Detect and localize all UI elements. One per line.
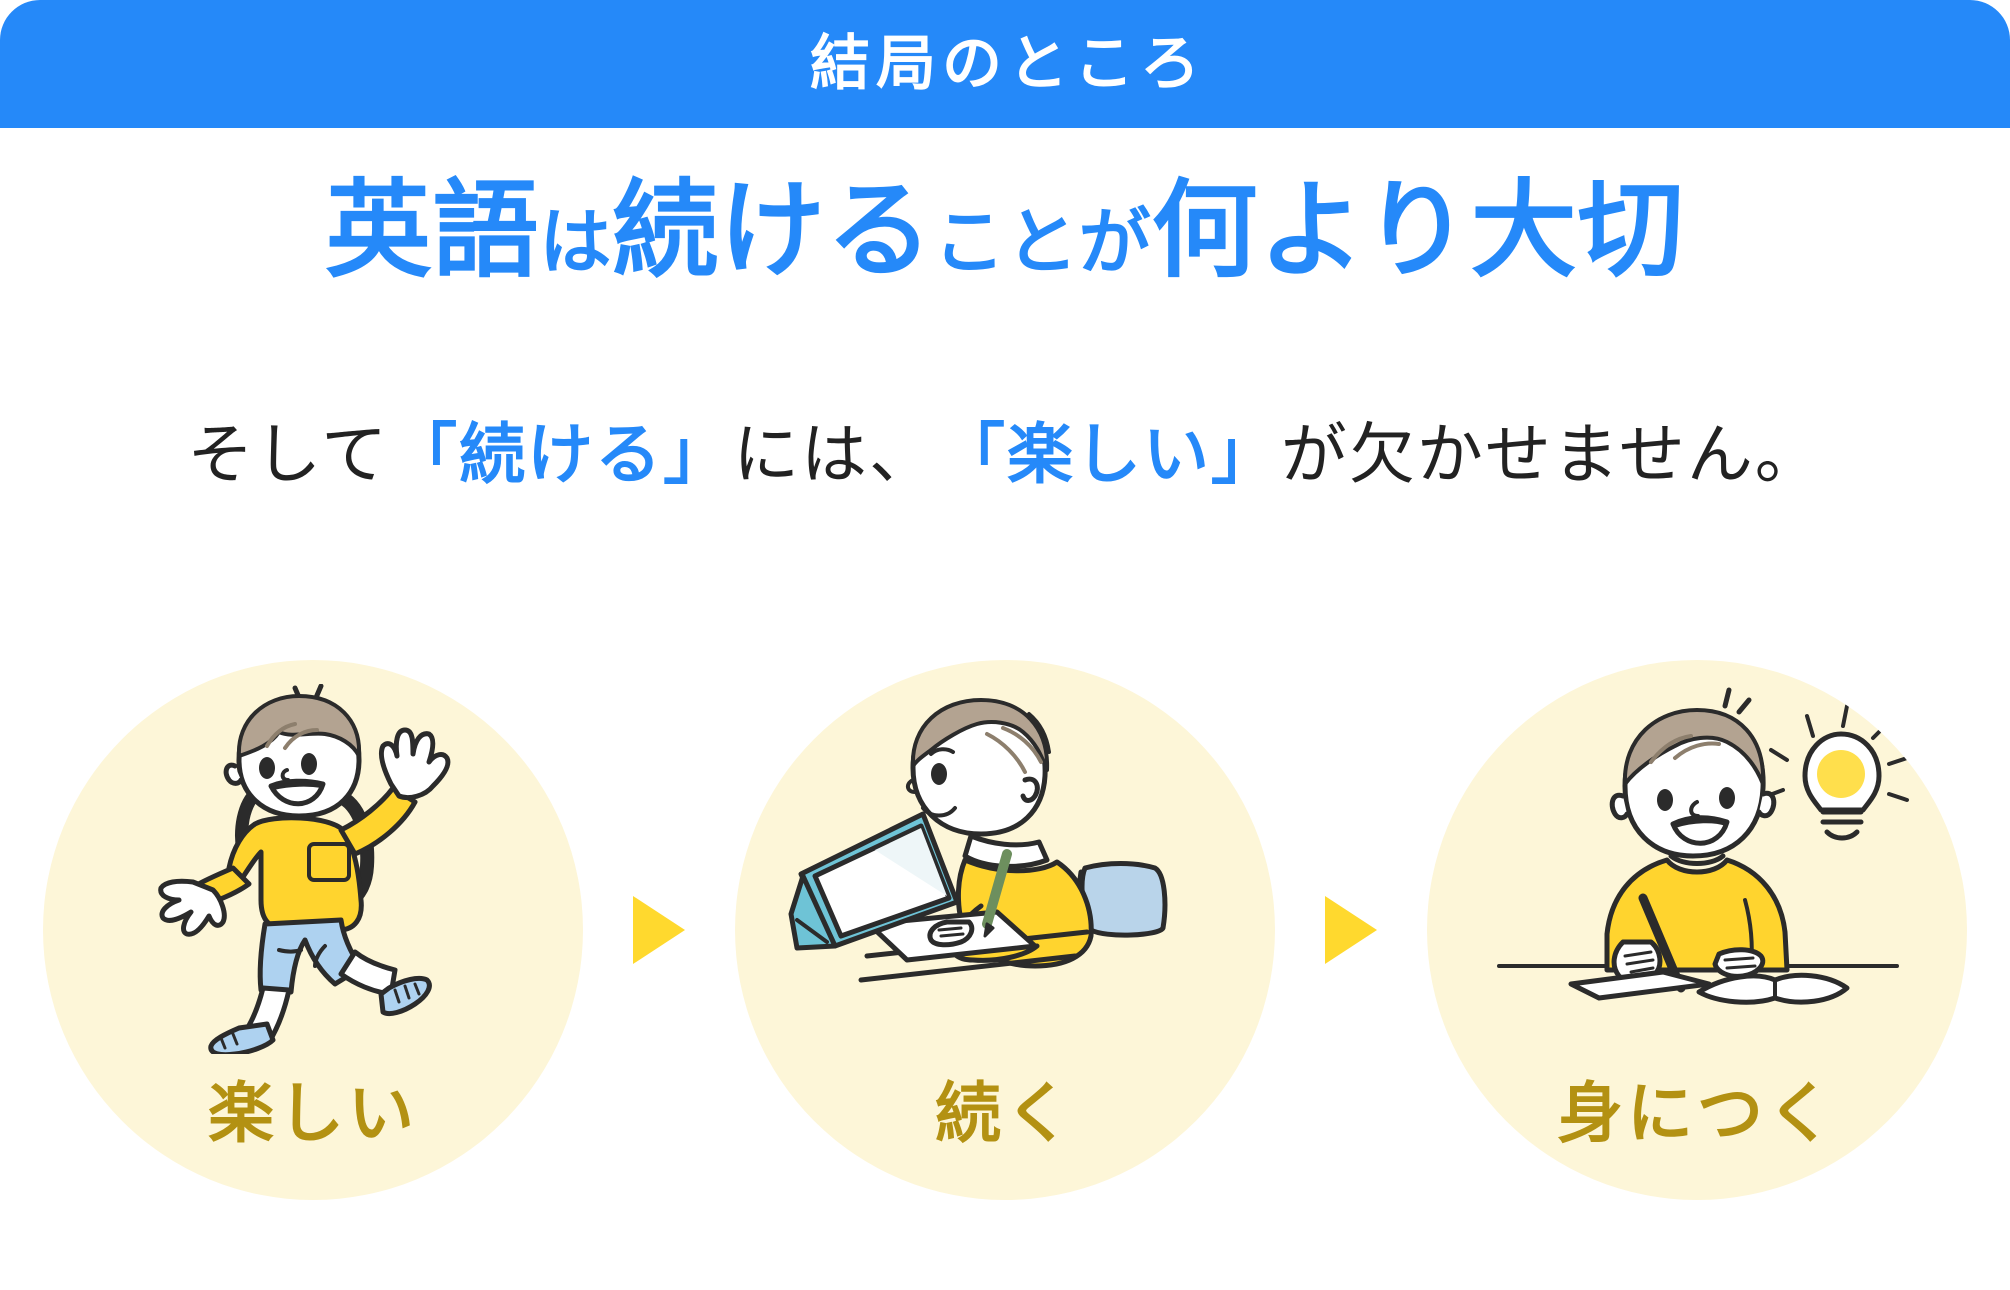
step-circle-mastery: 身につく	[1427, 660, 1967, 1200]
step-label-fun: 楽しい	[43, 1080, 583, 1146]
header-bar: 結局のところ	[0, 0, 2010, 128]
page-title: 英語は続けることが何より大切	[0, 178, 2010, 284]
arrow-right-icon-1	[633, 896, 685, 964]
step-label-continue: 続く	[735, 1080, 1275, 1146]
subtitle-part-5: が欠かせません。	[1281, 417, 1823, 491]
step-label-mastery: 身につく	[1427, 1080, 1967, 1146]
headline-segment-2: は	[539, 203, 612, 283]
boy-studying-at-tablet-icon	[735, 684, 1275, 1054]
subtitle-part-1: そして	[187, 417, 389, 491]
header-title: 結局のところ	[804, 34, 1206, 94]
arrow-right-icon-2	[1325, 896, 1377, 964]
subtitle-highlight-fun: 「楽しい」	[937, 415, 1281, 494]
headline-segment-5: 何より大切	[1152, 172, 1685, 290]
step-circle-fun: 楽しい	[43, 660, 583, 1200]
boy-writing-with-lightbulb-icon	[1427, 684, 1967, 1054]
subtitle-part-3: には、	[733, 417, 937, 491]
headline-segment-3: 続ける	[612, 172, 933, 290]
headline-segment-1: 英語	[325, 172, 539, 290]
subtitle: そして「続ける」には、「楽しい」が欠かせません。	[0, 415, 2010, 494]
steps-row: 楽しい	[0, 640, 2010, 1220]
step-circle-continue: 続く	[735, 660, 1275, 1200]
subtitle-highlight-continue: 「続ける」	[389, 415, 733, 494]
running-boy-with-backpack-icon	[43, 684, 583, 1054]
promo-card: 結局のところ 英語は続けることが何より大切 そして「続ける」には、「楽しい」が欠…	[0, 0, 2010, 1290]
headline-segment-4: ことが	[933, 203, 1151, 283]
